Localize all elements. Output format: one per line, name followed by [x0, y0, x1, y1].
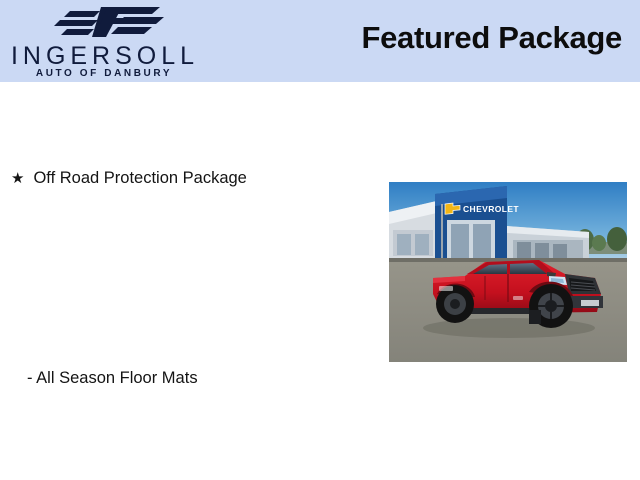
star-bullet-icon: ★	[11, 171, 24, 186]
feature-list-item: ★ Off Road Protection Package	[11, 170, 247, 187]
subfeature-list-item: - All Season Floor Mats	[27, 370, 198, 387]
dealer-wordmark: INGERSOLL	[0, 44, 205, 69]
dealer-subwordmark: AUTO OF DANBURY	[0, 69, 205, 79]
dealer-logo: INGERSOLL AUTO OF DANBURY	[0, 0, 205, 82]
page-title: Featured Package	[361, 22, 622, 55]
page-header: INGERSOLL AUTO OF DANBURY Featured Packa…	[0, 0, 640, 82]
vehicle-photo: CHEVROLET	[389, 182, 627, 362]
feature-label: Off Road Protection Package	[33, 170, 246, 187]
svg-text:CHEVROLET: CHEVROLET	[463, 204, 519, 214]
ingersoll-winged-emblem-icon	[48, 3, 166, 41]
main-content: ★ Off Road Protection Package - All Seas…	[0, 82, 640, 480]
